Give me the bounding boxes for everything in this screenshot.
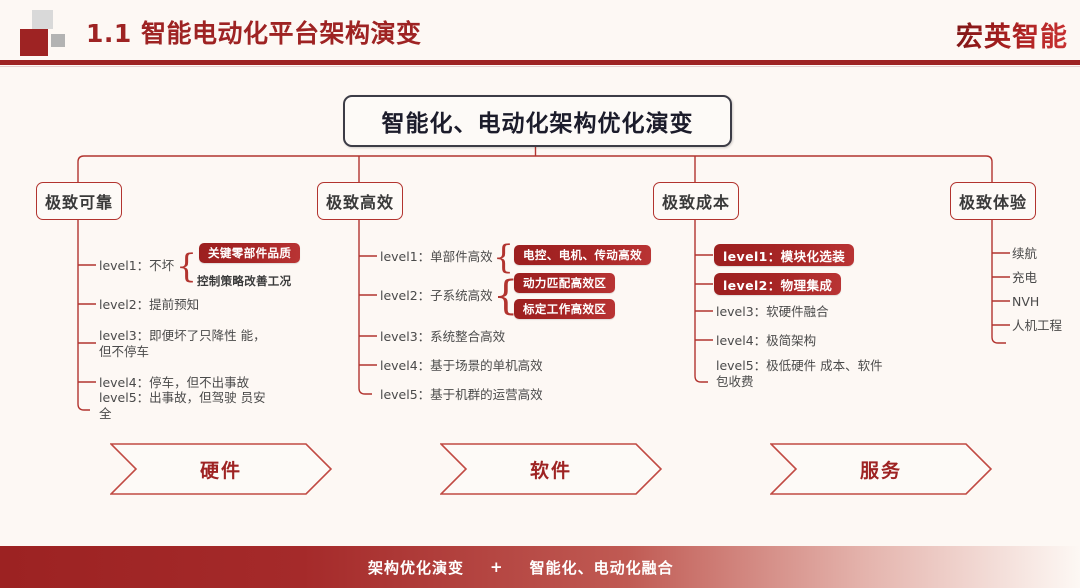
logo-square-gray-icon <box>51 34 65 47</box>
leaf-efficiency-level4: level4：基于场景的单机高效 <box>380 358 543 374</box>
leaf-experience-nvh: NVH <box>1012 294 1039 310</box>
logo-square-red-icon <box>20 29 48 56</box>
branch-head-reliability[interactable]: 极致可靠 <box>36 182 122 220</box>
footer-plus-sign: + <box>490 558 504 576</box>
chevron-software[interactable]: 软件 <box>440 443 662 495</box>
chevron-hardware[interactable]: 硬件 <box>110 443 332 495</box>
badge-power-match-zone[interactable]: 动力匹配高效区 <box>514 273 615 293</box>
leaf-efficiency-level2: level2：子系统高效 <box>380 288 493 304</box>
leaf-reliability-level2: level2：提前预知 <box>99 297 199 313</box>
logo-squares-icon <box>20 10 84 54</box>
brand-logo: 宏英智能 <box>956 15 1068 54</box>
branch-head-efficiency[interactable]: 极致高效 <box>317 182 403 220</box>
chevron-software-label: 软件 <box>440 443 662 495</box>
leaf-experience-range: 续航 <box>1012 246 1037 262</box>
chevron-hardware-label: 硬件 <box>110 443 332 495</box>
footer-right-text: 智能化、电动化融合 <box>530 557 674 578</box>
badge-econtrol-motor-transmission[interactable]: 电控、电机、传动高效 <box>514 245 651 265</box>
branch-head-cost[interactable]: 极致成本 <box>653 182 739 220</box>
leaf-efficiency-level3: level3：系统整合高效 <box>380 329 505 345</box>
root-title-box: 智能化、电动化架构优化演变 <box>343 95 732 147</box>
leaf-efficiency-level1: level1：单部件高效 <box>380 249 493 265</box>
leaf-experience-ergonomics: 人机工程 <box>1012 318 1062 334</box>
chevron-row: 硬件 软件 服务 <box>0 443 1080 505</box>
leaf-efficiency-level5: level5：基于机群的运营高效 <box>380 387 543 403</box>
leaf-reliability-level5: level5：出事故，但驾驶 员安全 <box>99 390 269 422</box>
footer-content: 架构优化演变 + 智能化、电动化融合 <box>368 557 674 578</box>
brace-icon-efficiency-level1: { <box>493 240 514 273</box>
slide-footer: 架构优化演变 + 智能化、电动化融合 <box>0 546 1080 588</box>
chevron-service-label: 服务 <box>770 443 992 495</box>
leaf-reliability-level1: level1：不坏 <box>99 258 174 274</box>
badge-key-component-quality[interactable]: 关键零部件品质 <box>199 243 300 263</box>
leaf-cost-level2[interactable]: level2：物理集成 <box>714 273 841 295</box>
leaf-cost-level1[interactable]: level1：模块化选装 <box>714 244 854 266</box>
slide-header: 1.1 智能电动化平台架构演变 宏英智能 <box>0 0 1080 62</box>
page-title: 1.1 智能电动化平台架构演变 <box>86 14 422 50</box>
logo-square-light-icon <box>32 10 53 29</box>
leaf-cost-level4: level4：极简架构 <box>716 333 816 349</box>
leaf-cost-level3: level3：软硬件融合 <box>716 304 829 320</box>
leaf-experience-charging: 充电 <box>1012 270 1037 286</box>
leaf-cost-level5: level5：极低硬件 成本、软件包收费 <box>716 358 886 390</box>
brace-icon-reliability-level1: { <box>176 249 197 282</box>
leaf-reliability-level3: level3：即便坏了只降性 能，但不停车 <box>99 328 269 360</box>
header-divider <box>0 60 1080 65</box>
note-control-strategy: 控制策略改善工况 <box>197 273 291 289</box>
badge-calibration-zone[interactable]: 标定工作高效区 <box>514 299 615 319</box>
branch-head-experience[interactable]: 极致体验 <box>950 182 1036 220</box>
header-divider-thin <box>0 66 1080 67</box>
footer-left-text: 架构优化演变 <box>368 557 464 578</box>
chevron-service[interactable]: 服务 <box>770 443 992 495</box>
leaf-reliability-level4: level4：停车，但不出事故 <box>99 375 249 391</box>
slide-root: 1.1 智能电动化平台架构演变 宏英智能 <box>0 0 1080 588</box>
